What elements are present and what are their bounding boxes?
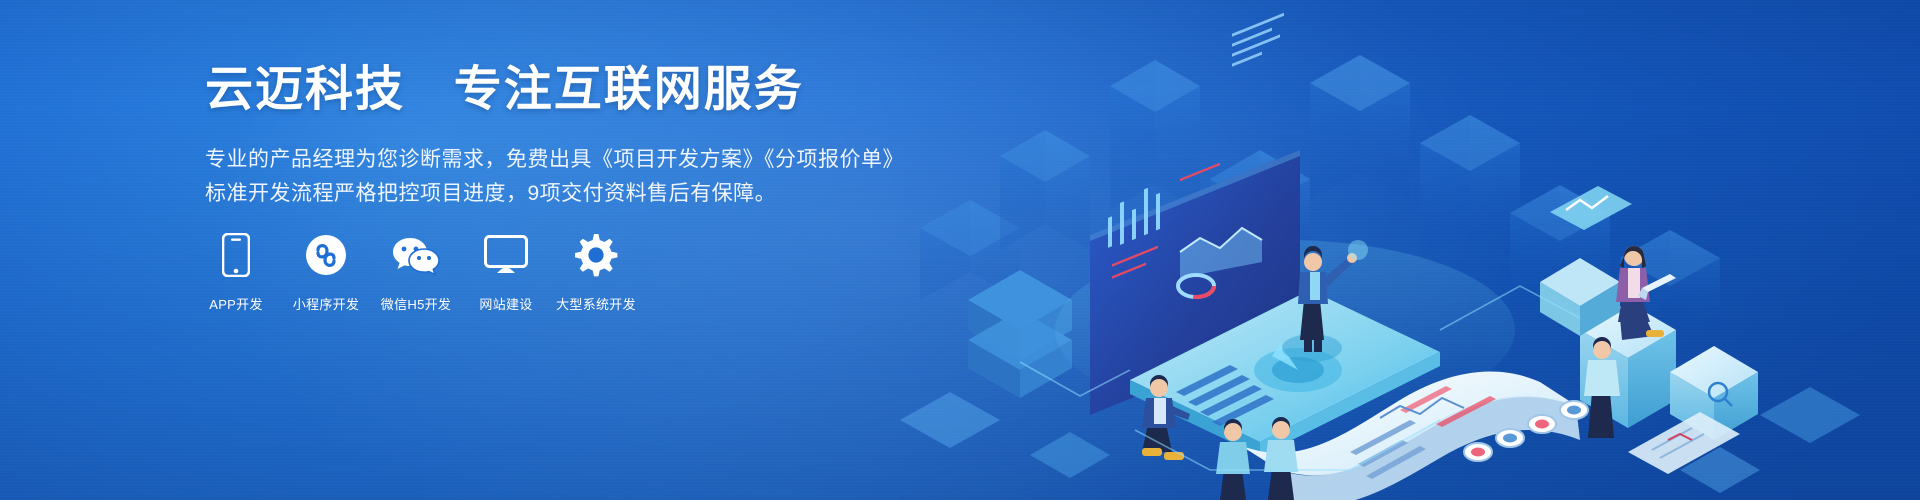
service-label: 大型系统开发 xyxy=(556,294,636,313)
hero-banner: 云迈科技 专注互联网服务 专业的产品经理为您诊断需求，免费出具《项目开发方案》《… xyxy=(0,0,1920,500)
isometric-tech-illustration xyxy=(880,0,1920,500)
service-label: 网站建设 xyxy=(479,294,532,313)
monitor-icon xyxy=(484,232,528,278)
mobile-phone-icon xyxy=(222,232,250,278)
subtitle-line-2: 标准开发流程严格把控项目进度，9项交付资料售后有保障。 xyxy=(205,177,905,211)
service-label: APP开发 xyxy=(209,294,263,313)
hero-subtitle: 专业的产品经理为您诊断需求，免费出具《项目开发方案》《分项报价单》 标准开发流程… xyxy=(205,143,905,211)
service-item-miniprogram[interactable]: 小程序开发 xyxy=(290,232,362,313)
mini-program-icon xyxy=(305,232,347,278)
service-label: 小程序开发 xyxy=(293,294,360,313)
service-label: 微信H5开发 xyxy=(381,294,451,313)
service-item-app[interactable]: APP开发 xyxy=(200,232,272,313)
service-item-wechat[interactable]: 微信H5开发 xyxy=(380,232,452,313)
service-item-website[interactable]: 网站建设 xyxy=(470,232,542,313)
subtitle-line-1: 专业的产品经理为您诊断需求，免费出具《项目开发方案》《分项报价单》 xyxy=(205,148,904,171)
service-item-system[interactable]: 大型系统开发 xyxy=(560,232,632,313)
gear-icon xyxy=(574,232,618,278)
hero-text-block: 云迈科技 专注互联网服务 专业的产品经理为您诊断需求，免费出具《项目开发方案》《… xyxy=(205,62,905,211)
page-title: 云迈科技 专注互联网服务 xyxy=(205,62,905,117)
wechat-icon xyxy=(392,232,440,278)
headline-brand: 云迈科技 xyxy=(205,63,405,116)
headline-tagline: 专注互联网服务 xyxy=(454,63,804,116)
service-list: APP开发 小程序开发 微信 xyxy=(200,232,650,313)
